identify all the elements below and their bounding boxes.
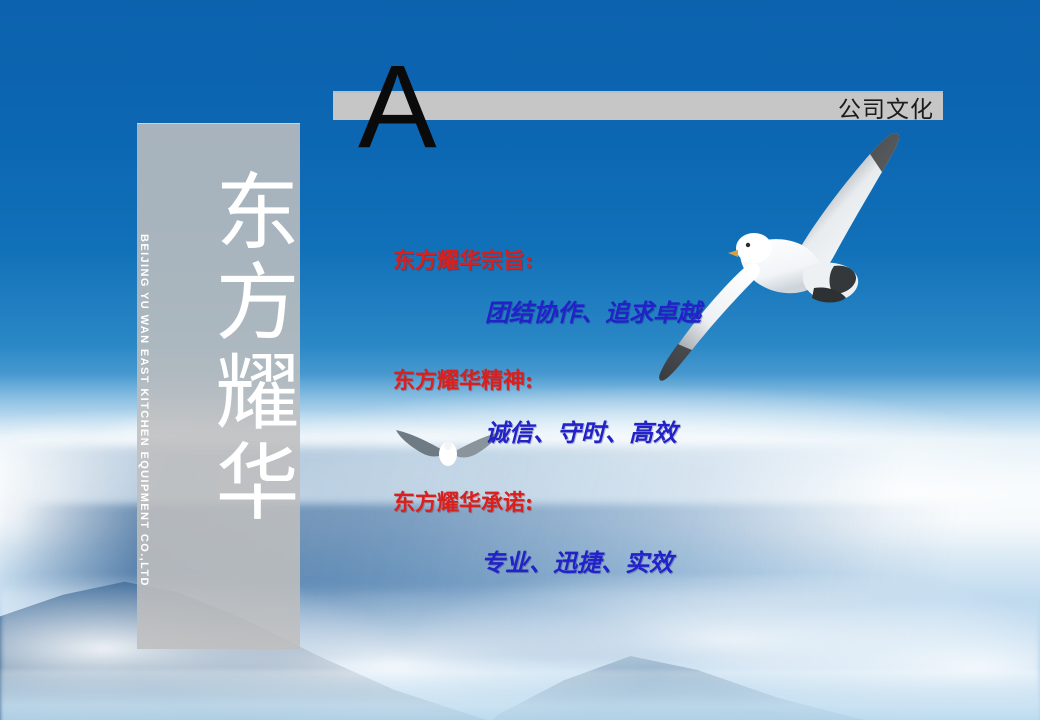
- brand-name-chinese: 东方耀华: [200, 168, 296, 528]
- culture-value-spirit: 诚信、守时、高效: [485, 413, 677, 448]
- page-title: 公司文化: [838, 90, 934, 124]
- culture-heading-spirit: 东方耀华精神:: [393, 363, 677, 395]
- culture-block-purpose: 东方耀华宗旨: 团结协作、追求卓越: [393, 243, 701, 328]
- culture-block-promise: 东方耀华承诺: 专业、迅捷、实效: [393, 485, 673, 578]
- slide-canvas: 公司文化 A 东方耀华 BEIJING YU WAN EAST KITCHEN …: [0, 0, 1040, 720]
- culture-heading-promise: 东方耀华承诺:: [393, 485, 673, 517]
- culture-value-promise: 专业、迅捷、实效: [481, 543, 673, 578]
- culture-value-purpose: 团结协作、追求卓越: [485, 293, 701, 328]
- section-letter-mark: A: [358, 48, 437, 166]
- culture-block-spirit: 东方耀华精神: 诚信、守时、高效: [393, 363, 677, 448]
- brand-panel: 东方耀华 BEIJING YU WAN EAST KITCHEN EQUIPME…: [137, 123, 300, 649]
- culture-heading-purpose: 东方耀华宗旨:: [393, 243, 701, 275]
- brand-name-english: BEIJING YU WAN EAST KITCHEN EQUIPMENT CO…: [138, 234, 150, 587]
- background-lower-mist: [0, 670, 1040, 720]
